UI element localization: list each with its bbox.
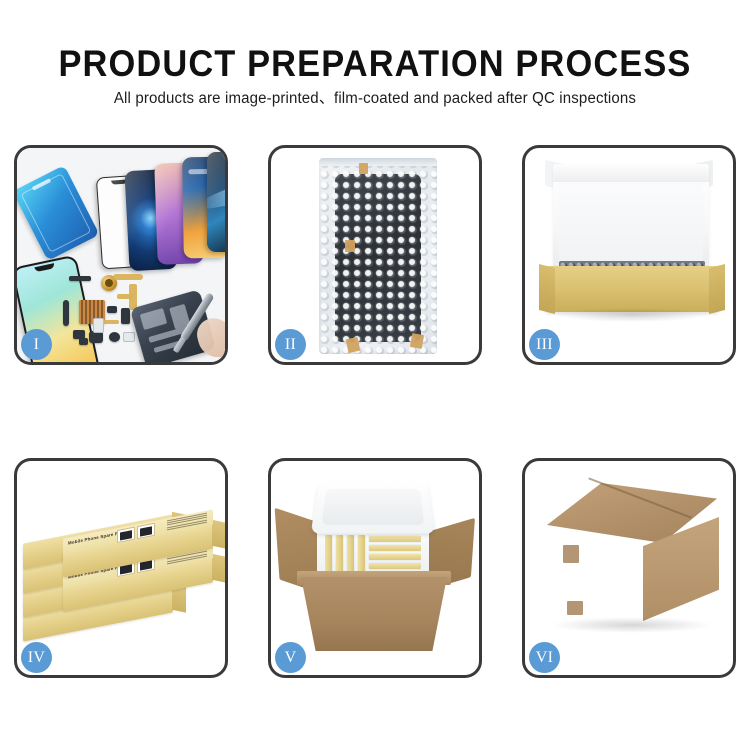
yellow-box-edge xyxy=(358,535,365,573)
carton-tape-icon xyxy=(563,545,579,563)
label-phone-thumb-icon xyxy=(137,523,155,539)
bubble-wrap-bag-icon xyxy=(319,158,437,354)
step-badge-4: IV xyxy=(21,642,52,673)
small-part-icon xyxy=(121,308,130,324)
step-5-illustration xyxy=(271,461,479,675)
page-title: PRODUCT PREPARATION PROCESS xyxy=(26,44,724,84)
yellow-box-edge xyxy=(347,535,354,573)
small-part-icon xyxy=(69,276,91,281)
step-panel: II xyxy=(268,145,482,365)
small-part-icon xyxy=(123,332,135,342)
step-badge-3: III xyxy=(529,329,560,360)
yellow-box-edge xyxy=(336,535,343,573)
label-phone-thumb-icon xyxy=(117,527,135,543)
yellow-box-flat xyxy=(369,536,421,542)
flex-cable-icon xyxy=(113,274,143,280)
process-steps-grid: I II xyxy=(14,145,736,678)
step-badge-5: V xyxy=(275,642,306,673)
tape-piece-icon xyxy=(345,240,355,252)
tape-piece-icon xyxy=(346,337,361,353)
small-part-icon xyxy=(107,306,117,313)
step-badge-2: II xyxy=(275,329,306,360)
step-card-5[interactable]: V xyxy=(268,458,482,678)
bubble-texture xyxy=(319,158,437,354)
packed-yellow-boxes xyxy=(325,535,421,573)
page-subtitle: All products are image-printed、film-coat… xyxy=(11,89,739,109)
yellow-box-flat xyxy=(369,563,421,569)
step-panel: III xyxy=(522,145,736,365)
phone-screen-teal-icon xyxy=(207,152,225,252)
step-card-4[interactable]: Mobile Phone Spare Parts xyxy=(14,458,228,678)
step-2-illustration xyxy=(271,148,479,362)
step-4-illustration: Mobile Phone Spare Parts xyxy=(17,461,225,675)
retail-box-stack: Mobile Phone Spare Parts xyxy=(21,475,225,665)
flex-cable-icon xyxy=(117,294,133,299)
drop-shadow xyxy=(555,308,709,322)
step-card-1[interactable]: I xyxy=(14,145,228,365)
product-preparation-infographic: PRODUCT PREPARATION PROCESS All products… xyxy=(0,0,750,750)
yellow-box-flat xyxy=(369,545,421,551)
sim-tray-icon xyxy=(93,318,104,333)
carton-body-icon xyxy=(301,577,447,651)
yellow-box-base-icon xyxy=(545,266,719,312)
tape-piece-icon xyxy=(410,333,424,349)
drop-shadow xyxy=(551,617,713,633)
speaker-part-icon xyxy=(109,332,120,342)
step-panel: I xyxy=(14,145,228,365)
step-6-illustration xyxy=(525,461,733,675)
foam-liner-icon xyxy=(315,479,431,579)
yellow-box-flat xyxy=(369,554,421,560)
step-card-6[interactable]: VI xyxy=(522,458,736,678)
tape-piece-icon xyxy=(359,163,368,174)
foam-lid-open-icon xyxy=(311,482,436,534)
step-3-illustration xyxy=(525,148,733,362)
carton-tape-icon xyxy=(567,601,583,615)
step-panel: V xyxy=(268,458,482,678)
step-badge-6: VI xyxy=(529,642,560,673)
step-panel: VI xyxy=(522,458,736,678)
foam-lid-icon xyxy=(553,164,709,272)
step-card-3[interactable]: III xyxy=(522,145,736,365)
small-part-icon xyxy=(63,300,69,326)
step-badge-1: I xyxy=(21,329,52,360)
step-panel: Mobile Phone Spare Parts xyxy=(14,458,228,678)
step-1-illustration xyxy=(17,148,225,362)
step-card-2[interactable]: II xyxy=(268,145,482,365)
yellow-box-edge xyxy=(325,535,332,573)
small-part-icon xyxy=(79,338,88,345)
bag-seal xyxy=(319,158,437,166)
